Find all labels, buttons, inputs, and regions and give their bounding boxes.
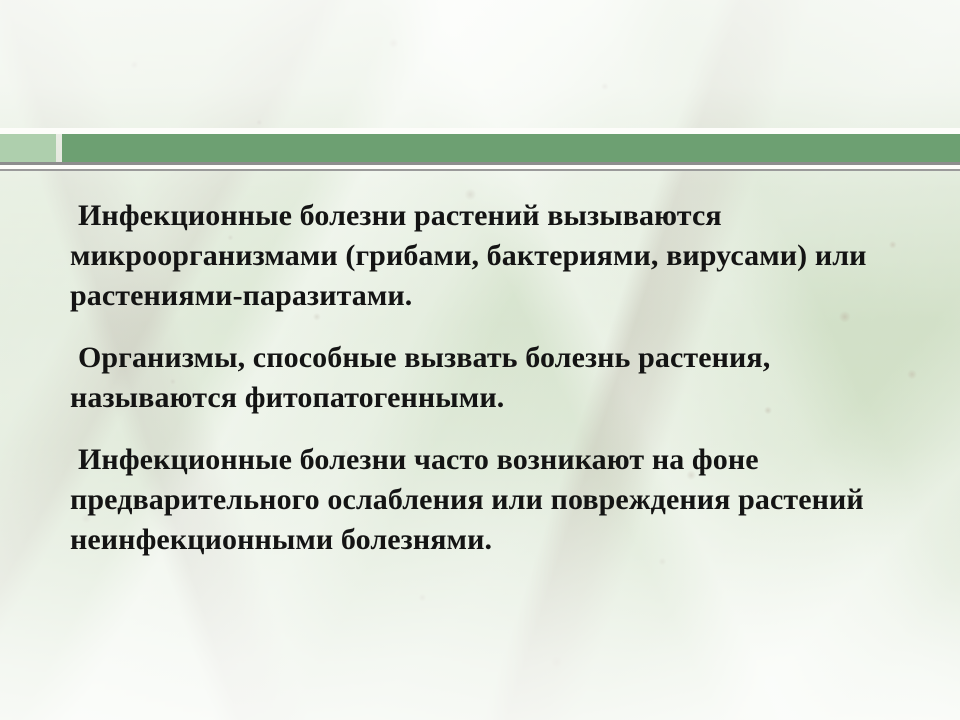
decorative-divider bbox=[0, 128, 960, 178]
slide: Инфекционные болезни растений вызываются… bbox=[0, 0, 960, 720]
paragraph-3: Инфекционные болезни часто возникают на … bbox=[70, 440, 900, 560]
divider-rule-lower bbox=[0, 169, 960, 171]
divider-accent-block bbox=[0, 134, 56, 162]
body-text: Инфекционные болезни растений вызываются… bbox=[70, 196, 900, 560]
paragraph-2: Организмы, способные вызвать болезнь рас… bbox=[70, 338, 900, 418]
divider-green-bar bbox=[62, 134, 960, 162]
paragraph-1: Инфекционные болезни растений вызываются… bbox=[70, 196, 900, 316]
